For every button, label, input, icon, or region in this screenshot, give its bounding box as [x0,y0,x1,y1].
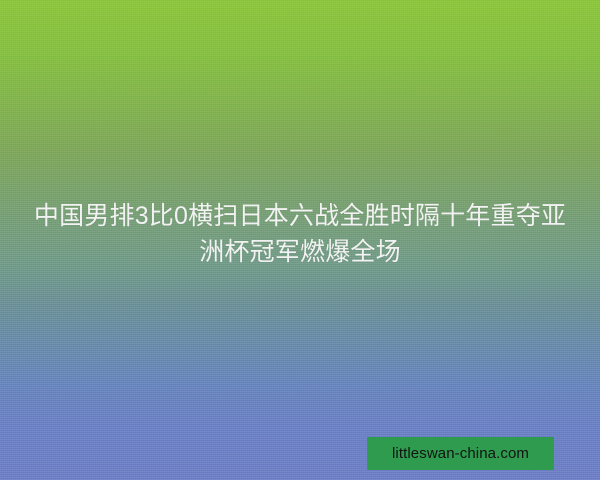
headline-text: 中国男排3比0横扫日本六战全胜时隔十年重夺亚洲杯冠军燃爆全场 [30,198,570,270]
image-card: 中国男排3比0横扫日本六战全胜时隔十年重夺亚洲杯冠军燃爆全场 littleswa… [0,0,600,480]
site-watermark-label: littleswan-china.com [392,446,529,461]
site-watermark-badge[interactable]: littleswan-china.com [367,437,554,470]
